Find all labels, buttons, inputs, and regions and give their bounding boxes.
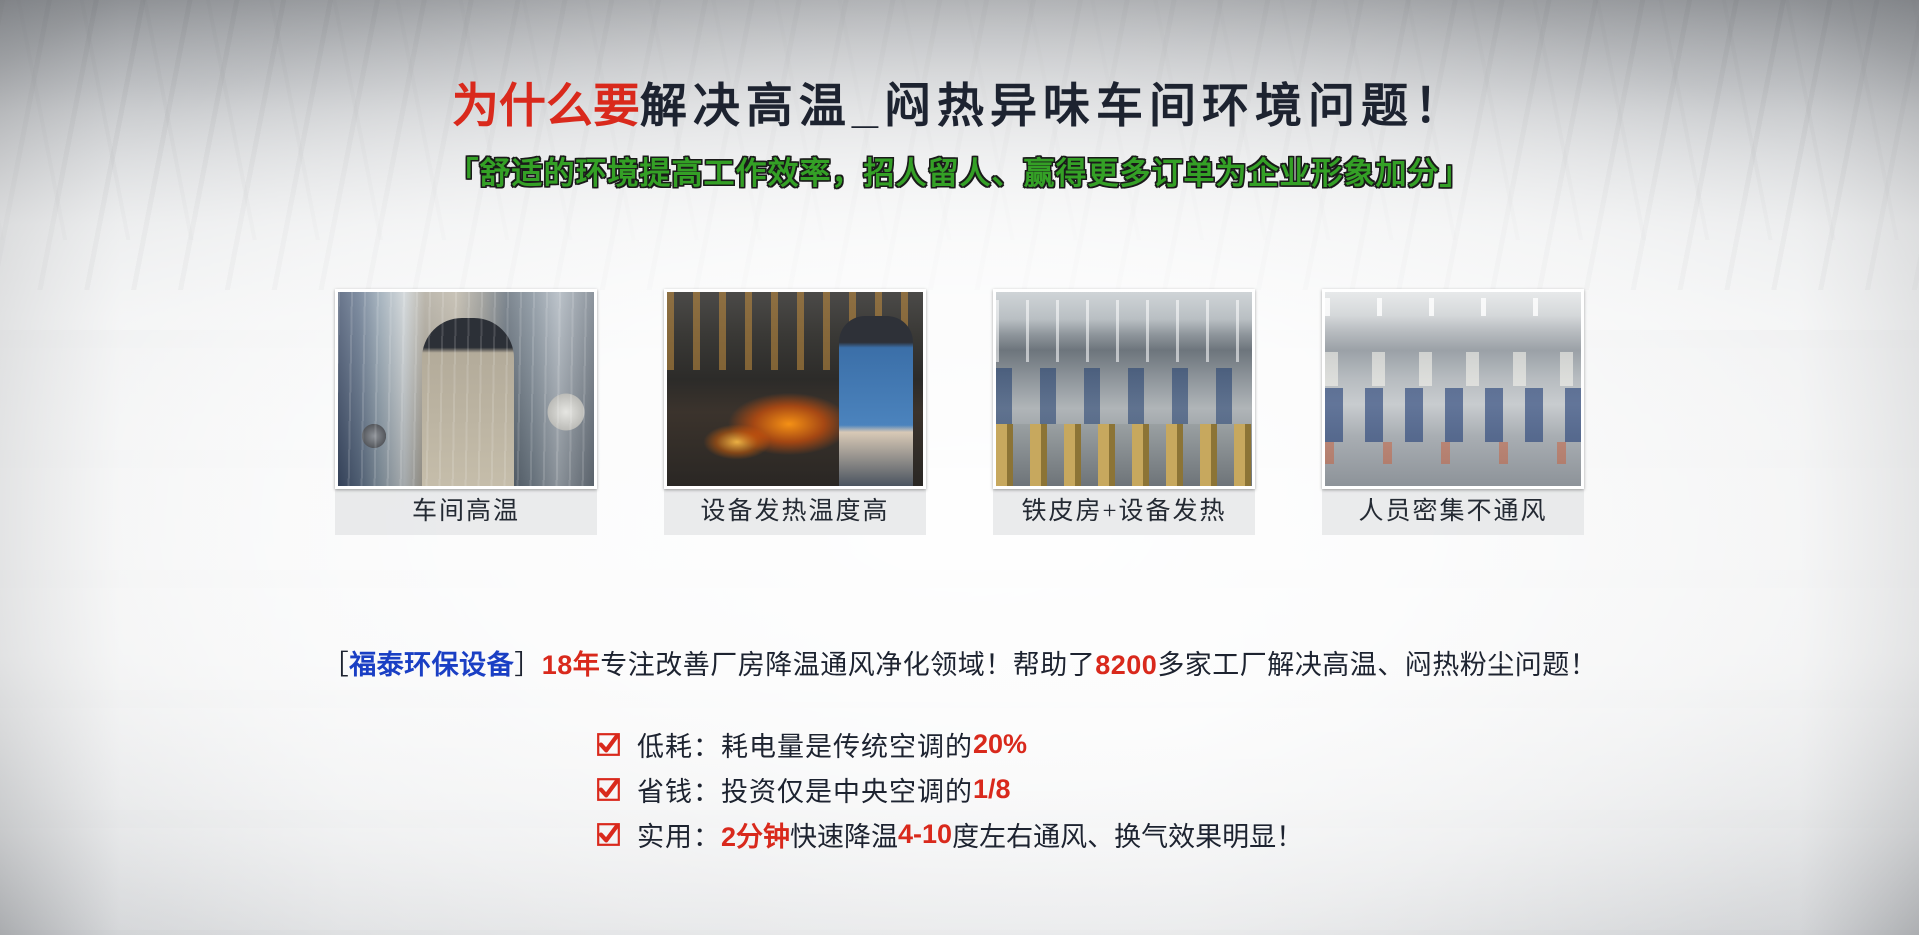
content-layer: 为什么要解决高温_闷热异味车间环境问题！ 「舒适的环境提高工作效率，招人留人、赢… [0, 0, 1919, 935]
benefit-suffix-text: 度左右通风、换气效果明显！ [952, 815, 1303, 854]
page-title-red-part: 为什么要 [452, 79, 640, 132]
problem-card-list: 车间高温 设备发热温度高 铁皮房+设备发热 人员密集不通风 [0, 289, 1919, 535]
benefit-highlight-2: 4-10 [898, 819, 952, 850]
page-title-dark-part: 解决高温_闷热异味车间环境问题！ [640, 79, 1467, 132]
benefit-label: 低耗：耗电量是传统空调的 [637, 725, 973, 764]
factory-count: 8200 [1095, 650, 1157, 680]
company-pitch-line: ［福泰环保设备］18年专注改善厂房降温通风净化领域！帮助了8200多家工厂解决高… [0, 643, 1919, 682]
equipment-heat-photo [664, 289, 926, 489]
pitch-tail-text: 多家工厂解决高温、闷热粉尘问题！ [1157, 650, 1597, 680]
company-brand-name: 福泰环保设备 [349, 650, 514, 680]
problem-card: 铁皮房+设备发热 [993, 289, 1255, 535]
workshop-high-temperature-photo [335, 289, 597, 489]
crowded-unventilated-photo [1322, 289, 1584, 489]
problem-card-caption: 车间高温 [335, 489, 597, 535]
metal-shed-heat-photo [993, 289, 1255, 489]
problem-card: 车间高温 [335, 289, 597, 535]
problem-card-caption: 设备发热温度高 [664, 489, 926, 535]
promo-page: 为什么要解决高温_闷热异味车间环境问题！ 「舒适的环境提高工作效率，招人留人、赢… [0, 0, 1919, 935]
bracket-open: ［ [322, 650, 350, 680]
experience-years: 18年 [542, 650, 601, 680]
benefit-label: 省钱：投资仅是中央空调的 [637, 770, 973, 809]
benefit-item: 低耗：耗电量是传统空调的20% [597, 722, 1303, 767]
benefit-list: 低耗：耗电量是传统空调的20% 省钱：投资仅是中央空调的1/8 [597, 722, 1303, 857]
page-subtitle: 「舒适的环境提高工作效率，招人留人、赢得更多订单为企业形象加分」 [0, 155, 1919, 194]
check-box-icon [597, 733, 620, 756]
problem-card: 人员密集不通风 [1322, 289, 1584, 535]
benefit-highlight: 2分钟 [721, 815, 790, 854]
problem-card: 设备发热温度高 [664, 289, 926, 535]
check-box-icon [597, 823, 620, 846]
pitch-middle-text: 专注改善厂房降温通风净化领域！帮助了 [600, 650, 1095, 680]
problem-card-caption: 人员密集不通风 [1322, 489, 1584, 535]
bracket-close: ］ [514, 650, 542, 680]
benefit-highlight: 1/8 [973, 774, 1011, 805]
check-box-icon [597, 778, 620, 801]
page-title: 为什么要解决高温_闷热异味车间环境问题！ [0, 82, 1919, 129]
benefit-highlight: 20% [973, 729, 1027, 760]
benefit-middle-text: 快速降温 [790, 815, 898, 854]
benefit-item: 实用：2分钟快速降温4-10度左右通风、换气效果明显！ [597, 812, 1303, 857]
problem-card-caption: 铁皮房+设备发热 [993, 489, 1255, 535]
benefit-label: 实用： [637, 815, 721, 854]
benefit-item: 省钱：投资仅是中央空调的1/8 [597, 767, 1303, 812]
